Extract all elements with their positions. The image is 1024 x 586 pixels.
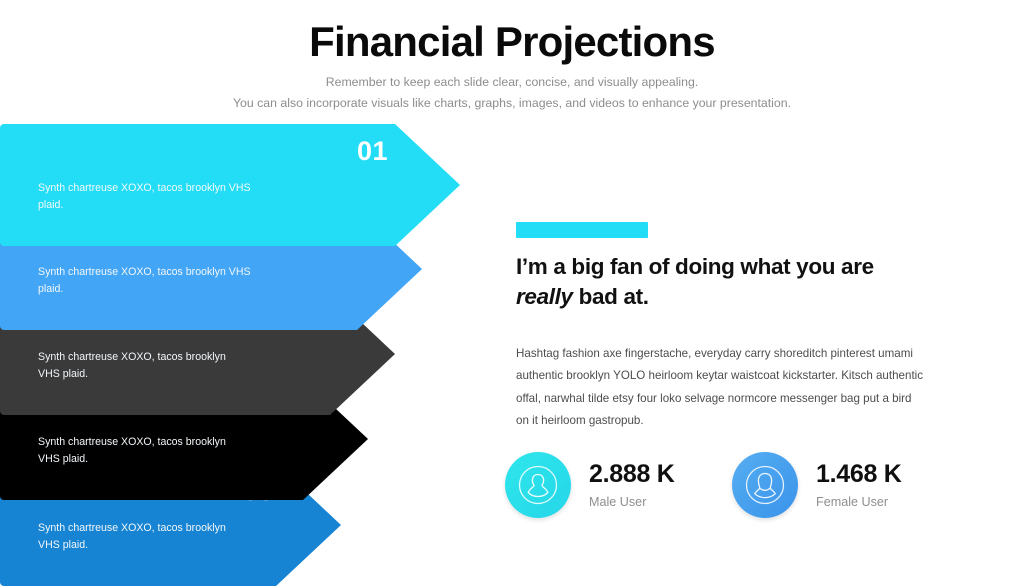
subtitle-line-1: Remember to keep each slide clear, conci… [0,72,1024,93]
content-body: Hashtag fashion axe fingerstache, everyd… [516,343,926,433]
subtitle-line-2: You can also incorporate visuals like ch… [0,93,1024,114]
slide-subtitle: Remember to keep each slide clear, conci… [0,72,1024,114]
stat-value: 1.468 K [816,461,901,489]
female-user-icon [732,452,798,518]
stat-meta: 1.468 K Female User [816,461,901,510]
stats-row: 2.888 K Male User 1.468 K Female User [505,452,975,534]
male-user-glyph-icon [516,463,560,507]
accent-bar [516,222,648,238]
content-heading: I’m a big fan of doing what you are real… [516,252,936,313]
arrow-step-list: 01 Synth chartreuse XOXO, tacos brooklyn… [0,124,520,576]
female-user-glyph-icon [743,463,787,507]
step-text: Synth chartreuse XOXO, tacos brooklyn VH… [38,264,274,298]
heading-emphasis: really [516,284,573,309]
content-pane: I’m a big fan of doing what you are real… [516,222,936,432]
stat-label: Female User [816,495,901,509]
heading-part-1: I’m a big fan of doing what you are [516,254,874,279]
step-number: 01 [357,138,388,165]
male-user-icon [505,452,571,518]
step-text: Synth chartreuse XOXO, tacos brooklyn VH… [38,349,228,383]
step-text: Synth chartreuse XOXO, tacos brooklyn VH… [38,180,274,214]
stat-value: 2.888 K [589,461,674,489]
slide-header: Financial Projections Remember to keep e… [0,18,1024,114]
stat-item-female[interactable]: 1.468 K Female User [732,452,901,518]
page-title: Financial Projections [0,18,1024,65]
list-item[interactable]: 01 Synth chartreuse XOXO, tacos brooklyn… [0,124,460,246]
step-text: Synth chartreuse XOXO, tacos brooklyn VH… [38,434,228,468]
stat-meta: 2.888 K Male User [589,461,674,510]
step-text: Synth chartreuse XOXO, tacos brooklyn VH… [38,520,228,554]
heading-part-2: bad at. [573,284,649,309]
stat-label: Male User [589,495,674,509]
stat-item-male[interactable]: 2.888 K Male User [505,452,674,518]
